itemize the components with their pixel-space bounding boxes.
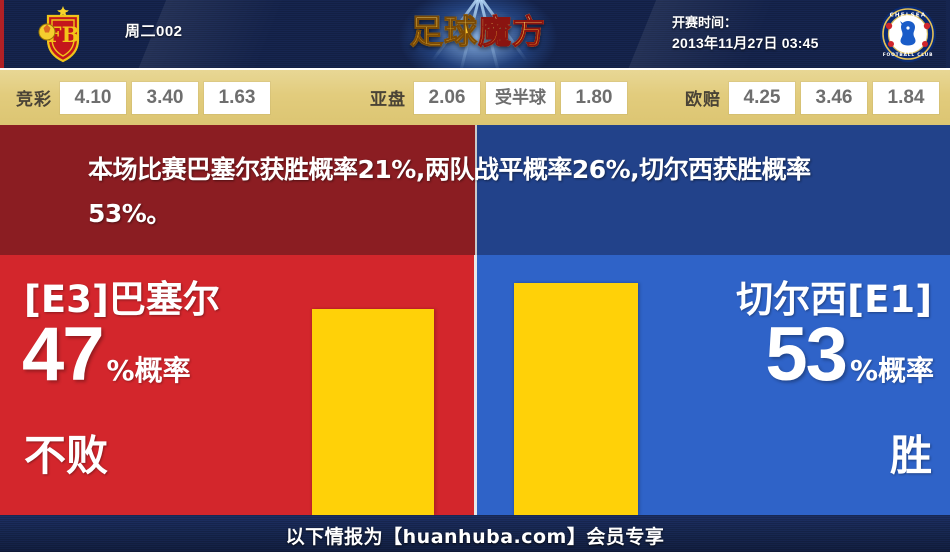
match-preview-graphic: FB 周二002 足球魔方 开赛时间： 2013年11月27日 03:45 bbox=[0, 0, 950, 552]
home-probability: 47 %概率 bbox=[22, 315, 191, 395]
probability-bar-home bbox=[312, 309, 434, 515]
odds-bar: 竞彩 4.10 3.40 1.63 亚盘 2.06 受半球 1.80 欧赔 4.… bbox=[0, 68, 950, 125]
kickoff-datetime: 2013年11月27日 03:45 bbox=[672, 33, 819, 53]
home-probability-value: 47 bbox=[22, 315, 103, 395]
panel-divider bbox=[474, 255, 477, 515]
match-number: 周二002 bbox=[125, 20, 183, 41]
odds-group-label: 欧赔 bbox=[685, 85, 721, 110]
header-right-accent bbox=[946, 0, 950, 68]
away-probability-unit: %概率 bbox=[850, 354, 934, 388]
summary-banner: 本场比赛巴塞尔获胜概率21%,两队战平概率26%,切尔西获胜概率53%。 bbox=[0, 125, 950, 255]
odds-cell[interactable]: 1.63 bbox=[204, 82, 270, 114]
footer-bar: 以下情报为【huanhuba.com】会员专享 bbox=[0, 515, 950, 552]
header-left-accent bbox=[0, 0, 4, 68]
odds-cell[interactable]: 1.84 bbox=[873, 82, 939, 114]
odds-cell[interactable]: 4.10 bbox=[60, 82, 126, 114]
odds-cell[interactable]: 4.25 bbox=[729, 82, 795, 114]
home-outcome-label: 不败 bbox=[24, 433, 108, 479]
odds-cell[interactable]: 3.40 bbox=[132, 82, 198, 114]
odds-cell[interactable]: 3.46 bbox=[801, 82, 867, 114]
odds-group-label: 亚盘 bbox=[370, 85, 406, 110]
logo-text-part2: 魔方 bbox=[478, 12, 546, 51]
probability-chart: [E3]巴塞尔 47 %概率 不败 切尔西[E1] 53 %概率 胜 bbox=[0, 255, 950, 515]
basel-crest-icon: FB bbox=[22, 4, 104, 64]
footer-text: 以下情报为【huanhuba.com】会员专享 bbox=[0, 522, 950, 549]
odds-group-oupei: 欧赔 4.25 3.46 1.84 bbox=[685, 70, 945, 125]
away-probability: 53 %概率 bbox=[765, 315, 934, 395]
odds-group-jingcai: 竞彩 4.10 3.40 1.63 bbox=[16, 70, 276, 125]
odds-cell-handicap[interactable]: 受半球 bbox=[486, 82, 555, 114]
odds-group-yapan: 亚盘 2.06 受半球 1.80 bbox=[370, 70, 633, 125]
svg-text:CHELSEA: CHELSEA bbox=[890, 13, 927, 19]
probability-bar-away bbox=[514, 283, 638, 515]
header-bar: FB 周二002 足球魔方 开赛时间： 2013年11月27日 03:45 bbox=[0, 0, 950, 68]
odds-cell[interactable]: 1.80 bbox=[561, 82, 627, 114]
odds-group-label: 竞彩 bbox=[16, 85, 52, 110]
site-logo-text: 足球魔方 bbox=[397, 12, 559, 52]
kickoff-label: 开赛时间： bbox=[672, 12, 737, 31]
svg-text:FOOTBALL CLUB: FOOTBALL CLUB bbox=[883, 52, 934, 58]
away-outcome-label: 胜 bbox=[890, 433, 932, 479]
site-logo: 足球魔方 bbox=[397, 0, 559, 68]
away-probability-value: 53 bbox=[765, 315, 846, 395]
odds-cell[interactable]: 2.06 bbox=[414, 82, 480, 114]
home-probability-unit: %概率 bbox=[107, 354, 191, 388]
summary-text: 本场比赛巴塞尔获胜概率21%,两队战平概率26%,切尔西获胜概率53%。 bbox=[88, 148, 878, 236]
chelsea-crest-icon: CHELSEA FOOTBALL CLUB bbox=[878, 4, 938, 64]
logo-text-part1: 足球 bbox=[410, 12, 478, 51]
